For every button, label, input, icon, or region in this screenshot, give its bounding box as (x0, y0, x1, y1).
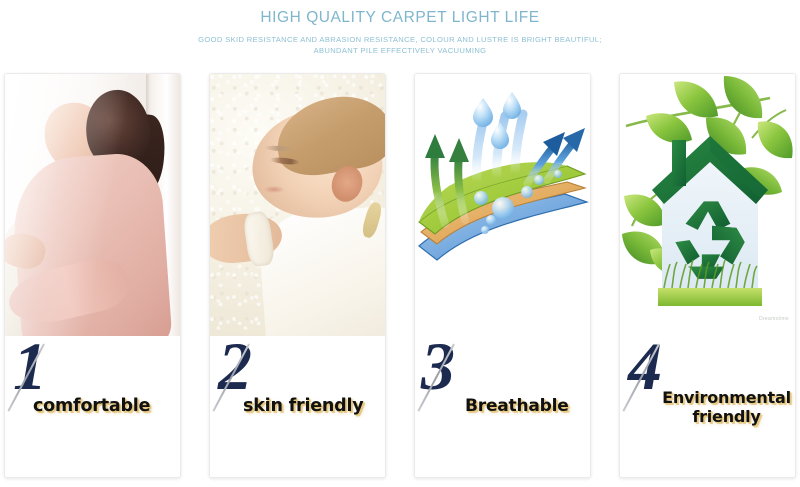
feature-card-comfortable[interactable]: 1 comfortable (4, 73, 181, 478)
green-house-recycle-icon (620, 74, 795, 336)
header-block: HIGH QUALITY CARPET LIGHT LIFE GOOD SKID… (0, 0, 800, 56)
caption-area: 4 Environmental friendly (620, 336, 795, 478)
airflow-water-droplet-layers-icon (415, 74, 590, 336)
feature-label: comfortable (33, 396, 176, 416)
feature-card-breathable[interactable]: 3 Breathable (414, 73, 591, 478)
subtitle-line-2: ABUNDANT PILE EFFECTIVELY VACUUMING (0, 45, 800, 56)
feature-number: 3 (421, 332, 453, 400)
sleeping-baby-photo (210, 74, 385, 336)
feature-label-line-2: friendly (662, 407, 791, 426)
feature-label: skin friendly (243, 396, 381, 416)
woman-relaxing-photo (5, 74, 180, 336)
breathable-layers-diagram (415, 74, 590, 336)
feature-label: Breathable (465, 396, 586, 416)
feature-label: Environmental friendly (662, 388, 791, 426)
feature-card-skin-friendly[interactable]: 2 skin friendly (209, 73, 386, 478)
caption-area: 1 comfortable (5, 336, 180, 478)
subtitle-block: GOOD SKID RESISTANCE AND ABRASION RESIST… (0, 34, 800, 56)
caption-area: 2 skin friendly (210, 336, 385, 478)
subtitle-line-1: GOOD SKID RESISTANCE AND ABRASION RESIST… (0, 34, 800, 45)
watermark-text: Dreamstime (759, 316, 789, 322)
feature-panel-row: 1 comfortable 2 skin friendly (0, 73, 800, 480)
feature-label-line-1: Environmental (662, 388, 791, 407)
caption-area: 3 Breathable (415, 336, 590, 478)
feature-card-environmental-friendly[interactable]: Dreamstime 4 Environmental friendly (619, 73, 796, 478)
eco-house-recycle-illustration: Dreamstime (620, 74, 795, 336)
page-title: HIGH QUALITY CARPET LIGHT LIFE (0, 8, 800, 28)
